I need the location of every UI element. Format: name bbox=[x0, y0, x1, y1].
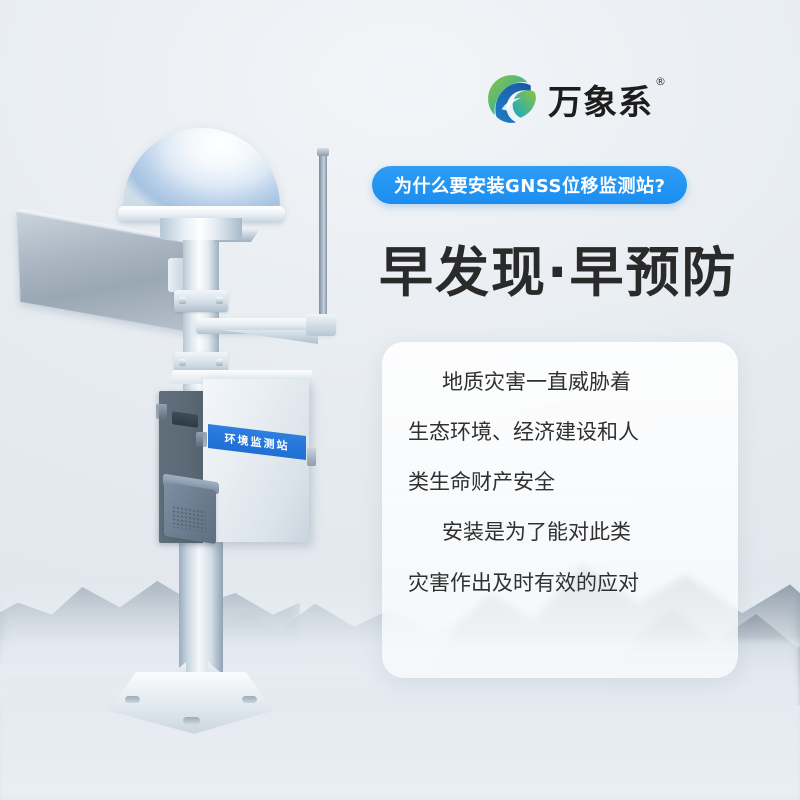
description-line-5: 灾害作出及时有效的应对 bbox=[408, 571, 712, 595]
question-badge-text: 为什么要安装GNSS位移监测站? bbox=[394, 172, 665, 198]
clamp-bolt bbox=[179, 359, 186, 366]
question-badge: 为什么要安装GNSS位移监测站? bbox=[372, 166, 687, 204]
sensor-module-vented bbox=[164, 482, 216, 544]
base-plate bbox=[108, 672, 274, 734]
clamp-bolt bbox=[216, 359, 223, 366]
clamp-bolt bbox=[216, 297, 223, 304]
control-box-latch bbox=[307, 448, 316, 466]
description-line-1: 地质灾害一直威胁着 bbox=[408, 370, 712, 394]
clamp-bolt bbox=[179, 297, 186, 304]
base-bolt-hole bbox=[242, 696, 257, 703]
brand-name: 万象系 ® bbox=[548, 75, 653, 124]
poster-root: 环境监测站 bbox=[0, 0, 800, 800]
description-line-2: 生态环境、经济建设和人 bbox=[408, 420, 712, 444]
control-box-hinge bbox=[156, 404, 167, 419]
rod-antenna bbox=[319, 152, 327, 328]
base-bolt-hole bbox=[125, 696, 140, 703]
base-bolt-hole bbox=[183, 717, 200, 724]
registered-trademark-icon: ® bbox=[655, 75, 667, 88]
rod-antenna-cap bbox=[317, 148, 329, 156]
description-line-3: 类生命财产安全 bbox=[408, 470, 712, 494]
gnss-monitoring-station-illustration: 环境监测站 bbox=[0, 0, 400, 800]
swirl-globe-icon bbox=[486, 73, 538, 125]
brand-name-text: 万象系 bbox=[548, 83, 653, 123]
gnss-dome-neck bbox=[160, 218, 242, 240]
control-box-hinge bbox=[196, 432, 207, 447]
rod-antenna-base-bracket bbox=[306, 314, 336, 336]
control-box-front bbox=[203, 379, 309, 542]
brand-logo: 万象系 ® bbox=[486, 70, 666, 128]
control-box-nameplate-text: 环境监测站 bbox=[225, 430, 290, 454]
gnss-dome-antenna-icon bbox=[123, 128, 280, 216]
description-line-4: 安装是为了能对此类 bbox=[408, 520, 712, 544]
description-card: 地质灾害一直威胁着 生态环境、经济建设和人 类生命财产安全 安装是为了能对此类 … bbox=[382, 342, 738, 678]
page-title: 早发现·早预防 bbox=[379, 228, 738, 307]
